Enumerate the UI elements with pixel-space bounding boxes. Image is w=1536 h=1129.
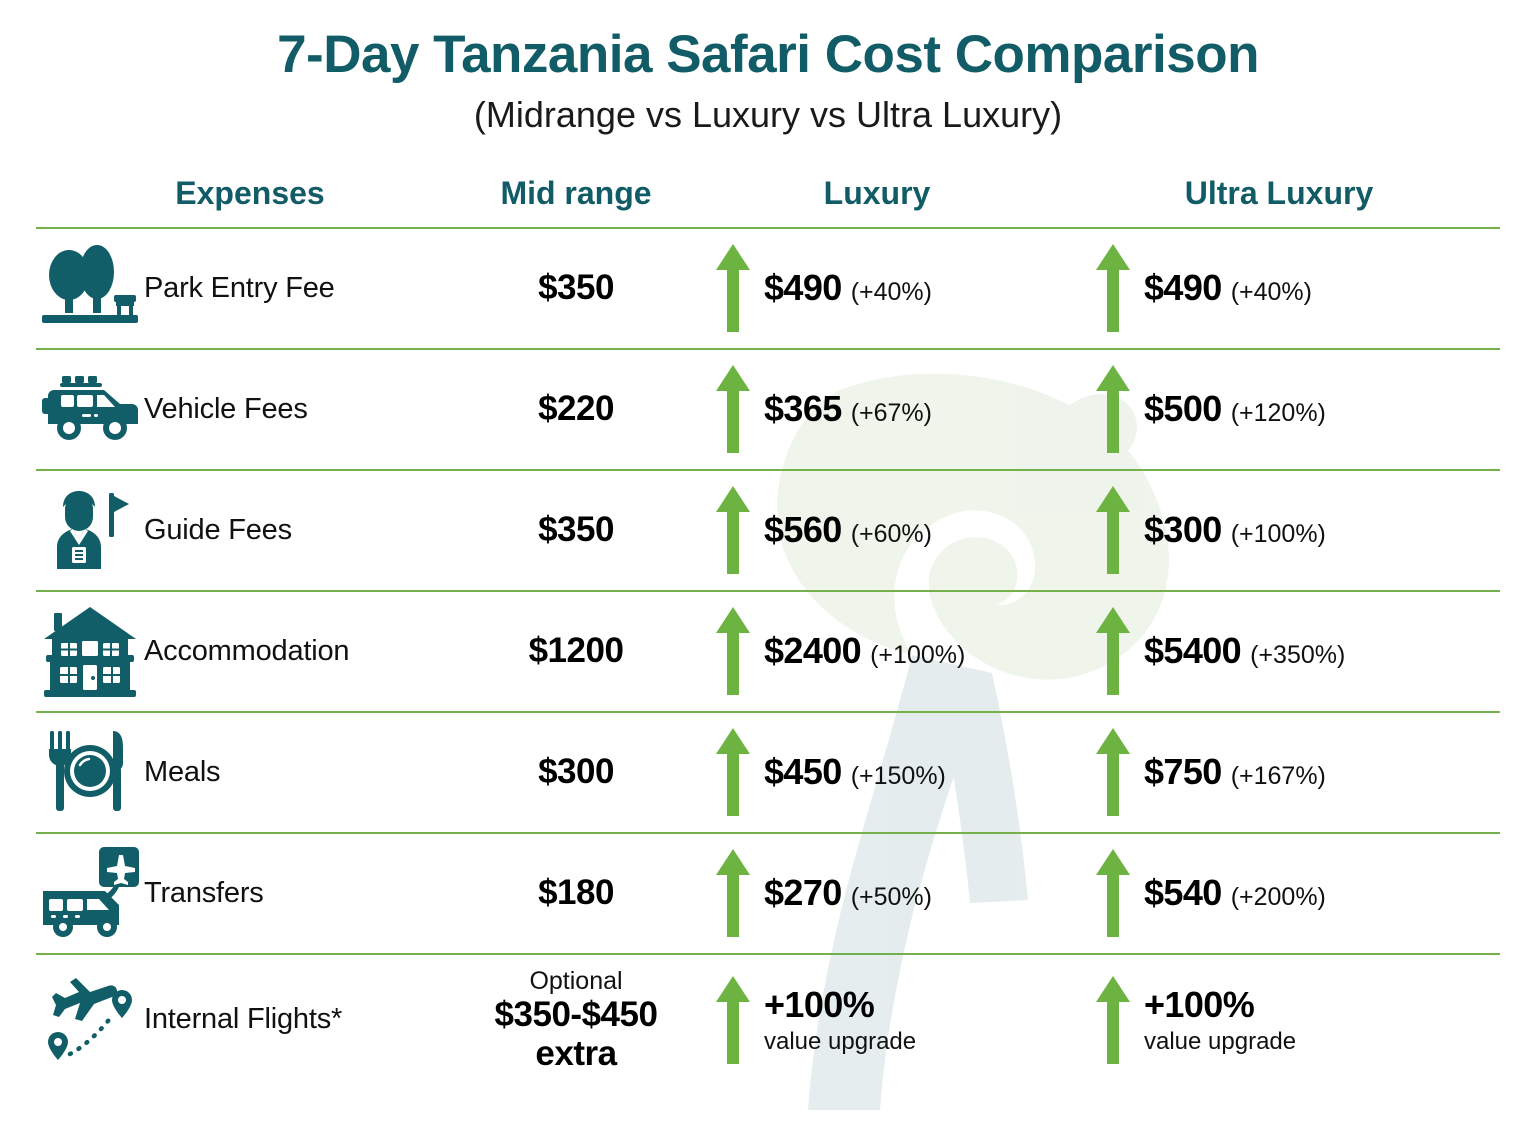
up-arrow-icon <box>716 849 750 937</box>
mid-range-cell: $220 <box>436 389 716 429</box>
row-label: Vehicle Fees <box>144 393 308 426</box>
ultra-luxury-cell: $300 (+100%) <box>1096 486 1500 574</box>
table-row: Transfers $180 $270 (+50%) $540 <box>36 832 1500 953</box>
plate-cutlery-icon <box>36 722 144 822</box>
expense-cell: Guide Fees <box>36 480 436 580</box>
table-row: Accommodation $1200 $2400 (+100%) $ <box>36 590 1500 711</box>
mid-range-cell: $350 <box>436 510 716 550</box>
header-cell-expenses: Expenses <box>36 175 436 212</box>
up-arrow-icon <box>1096 607 1130 695</box>
header-cell-luxury: Luxury <box>716 175 1096 212</box>
up-arrow-icon <box>716 365 750 453</box>
title-block: 7-Day Tanzania Safari Cost Comparison (M… <box>0 0 1536 135</box>
up-arrow-icon <box>1096 365 1130 453</box>
luxury-cell: $270 (+50%) <box>716 849 1096 937</box>
shuttle-bus-airport-icon <box>36 843 144 943</box>
luxury-percent: (+67%) <box>851 399 932 428</box>
expense-cell: Transfers <box>36 843 436 943</box>
up-arrow-icon <box>1096 244 1130 332</box>
up-arrow-icon <box>1096 728 1130 816</box>
ultra-luxury-percent: (+120%) <box>1231 399 1326 428</box>
table-row: Guide Fees $350 $560 (+60%) $300 <box>36 469 1500 590</box>
ultra-luxury-value: $490 <box>1144 267 1222 309</box>
mid-range-value: $220 <box>538 389 614 428</box>
row-label: Internal Flights* <box>144 1003 342 1036</box>
ultra-luxury-value: $750 <box>1144 751 1222 793</box>
expense-cell: Meals <box>36 722 436 822</box>
ultra-luxury-percent: (+200%) <box>1231 883 1326 912</box>
mid-range-optional-note: Optional <box>436 967 716 995</box>
mid-range-cell: $180 <box>436 873 716 913</box>
luxury-cell: $450 (+150%) <box>716 728 1096 816</box>
row-label: Guide Fees <box>144 514 292 547</box>
up-arrow-icon <box>1096 976 1130 1064</box>
row-label: Park Entry Fee <box>144 272 335 305</box>
header-label-luxury: Luxury <box>716 175 1096 212</box>
table-header-row: Expenses Mid range Luxury Ultra Luxury <box>36 161 1500 227</box>
header-label-expenses: Expenses <box>36 175 436 212</box>
luxury-value: $560 <box>764 509 842 551</box>
ultra-luxury-cell: $5400 (+350%) <box>1096 607 1500 695</box>
mid-range-value: $350 <box>538 268 614 307</box>
ultra-luxury-value: $500 <box>1144 388 1222 430</box>
ultra-luxury-cell: $540 (+200%) <box>1096 849 1500 937</box>
ultra-luxury-value: +100% <box>1144 986 1296 1024</box>
expense-cell: Internal Flights* <box>36 970 436 1070</box>
table-row: Park Entry Fee $350 $490 (+40%) $49 <box>36 227 1500 348</box>
ultra-luxury-percent: (+167%) <box>1231 762 1326 791</box>
mid-range-range-value: $350-$450 <box>436 995 716 1034</box>
ultra-luxury-cell: +100% value upgrade <box>1096 976 1500 1064</box>
trees-bench-icon <box>36 238 144 338</box>
luxury-cell: +100% value upgrade <box>716 976 1096 1064</box>
table-row: Vehicle Fees $220 $365 (+67%) $500 <box>36 348 1500 469</box>
mid-range-cell: Optional $350-$450 extra <box>436 967 716 1073</box>
luxury-cell: $365 (+67%) <box>716 365 1096 453</box>
mid-range-value: $300 <box>538 752 614 791</box>
ultra-luxury-cell: $750 (+167%) <box>1096 728 1500 816</box>
luxury-value: +100% <box>764 986 916 1024</box>
up-arrow-icon <box>1096 486 1130 574</box>
ultra-luxury-value: $540 <box>1144 872 1222 914</box>
up-arrow-icon <box>1096 849 1130 937</box>
mid-range-cell: $300 <box>436 752 716 792</box>
luxury-value: $2400 <box>764 630 861 672</box>
table-row: Meals $300 $450 (+150%) $750 <box>36 711 1500 832</box>
cost-comparison-table: Expenses Mid range Luxury Ultra Luxury <box>36 161 1500 1085</box>
guide-flag-icon <box>36 480 144 580</box>
ultra-luxury-upgrade-note: value upgrade <box>1144 1029 1296 1054</box>
luxury-cell: $560 (+60%) <box>716 486 1096 574</box>
safari-jeep-icon <box>36 359 144 459</box>
ultra-luxury-percent: (+350%) <box>1250 641 1345 670</box>
row-label: Meals <box>144 756 220 789</box>
luxury-upgrade-note: value upgrade <box>764 1029 916 1054</box>
luxury-value: $450 <box>764 751 842 793</box>
header-cell-ultra-luxury: Ultra Luxury <box>1096 175 1500 212</box>
mid-range-value: $1200 <box>529 631 624 670</box>
ultra-luxury-cell: $500 (+120%) <box>1096 365 1500 453</box>
row-label: Accommodation <box>144 635 349 668</box>
infographic-page: 7-Day Tanzania Safari Cost Comparison (M… <box>0 0 1536 1129</box>
row-label: Transfers <box>144 877 264 910</box>
up-arrow-icon <box>716 976 750 1064</box>
luxury-percent: (+100%) <box>870 641 965 670</box>
mid-range-cell: $1200 <box>436 631 716 671</box>
luxury-cell: $490 (+40%) <box>716 244 1096 332</box>
ultra-luxury-cell: $490 (+40%) <box>1096 244 1500 332</box>
mid-range-cell: $350 <box>436 268 716 308</box>
up-arrow-icon <box>716 728 750 816</box>
mid-range-value: $350 <box>538 510 614 549</box>
mid-range-value: $180 <box>538 873 614 912</box>
expense-cell: Park Entry Fee <box>36 238 436 338</box>
luxury-cell: $2400 (+100%) <box>716 607 1096 695</box>
expense-cell: Vehicle Fees <box>36 359 436 459</box>
page-subtitle: (Midrange vs Luxury vs Ultra Luxury) <box>0 95 1536 135</box>
luxury-value: $490 <box>764 267 842 309</box>
up-arrow-icon <box>716 486 750 574</box>
luxury-percent: (+60%) <box>851 520 932 549</box>
table-row: Internal Flights* Optional $350-$450 ext… <box>36 953 1500 1085</box>
ultra-luxury-percent: (+40%) <box>1231 278 1312 307</box>
ultra-luxury-percent: (+100%) <box>1231 520 1326 549</box>
luxury-value: $270 <box>764 872 842 914</box>
ultra-luxury-value: $300 <box>1144 509 1222 551</box>
header-label-ultra-luxury: Ultra Luxury <box>1096 175 1500 212</box>
up-arrow-icon <box>716 607 750 695</box>
lodge-house-icon <box>36 601 144 701</box>
ultra-luxury-value: $5400 <box>1144 630 1241 672</box>
airplane-route-pins-icon <box>36 970 144 1070</box>
luxury-percent: (+150%) <box>851 762 946 791</box>
up-arrow-icon <box>716 244 750 332</box>
page-title: 7-Day Tanzania Safari Cost Comparison <box>0 26 1536 83</box>
luxury-percent: (+50%) <box>851 883 932 912</box>
luxury-value: $365 <box>764 388 842 430</box>
header-label-mid-range: Mid range <box>436 175 716 212</box>
mid-range-extra-label: extra <box>436 1034 716 1073</box>
expense-cell: Accommodation <box>36 601 436 701</box>
header-cell-mid-range: Mid range <box>436 175 716 212</box>
luxury-percent: (+40%) <box>851 278 932 307</box>
